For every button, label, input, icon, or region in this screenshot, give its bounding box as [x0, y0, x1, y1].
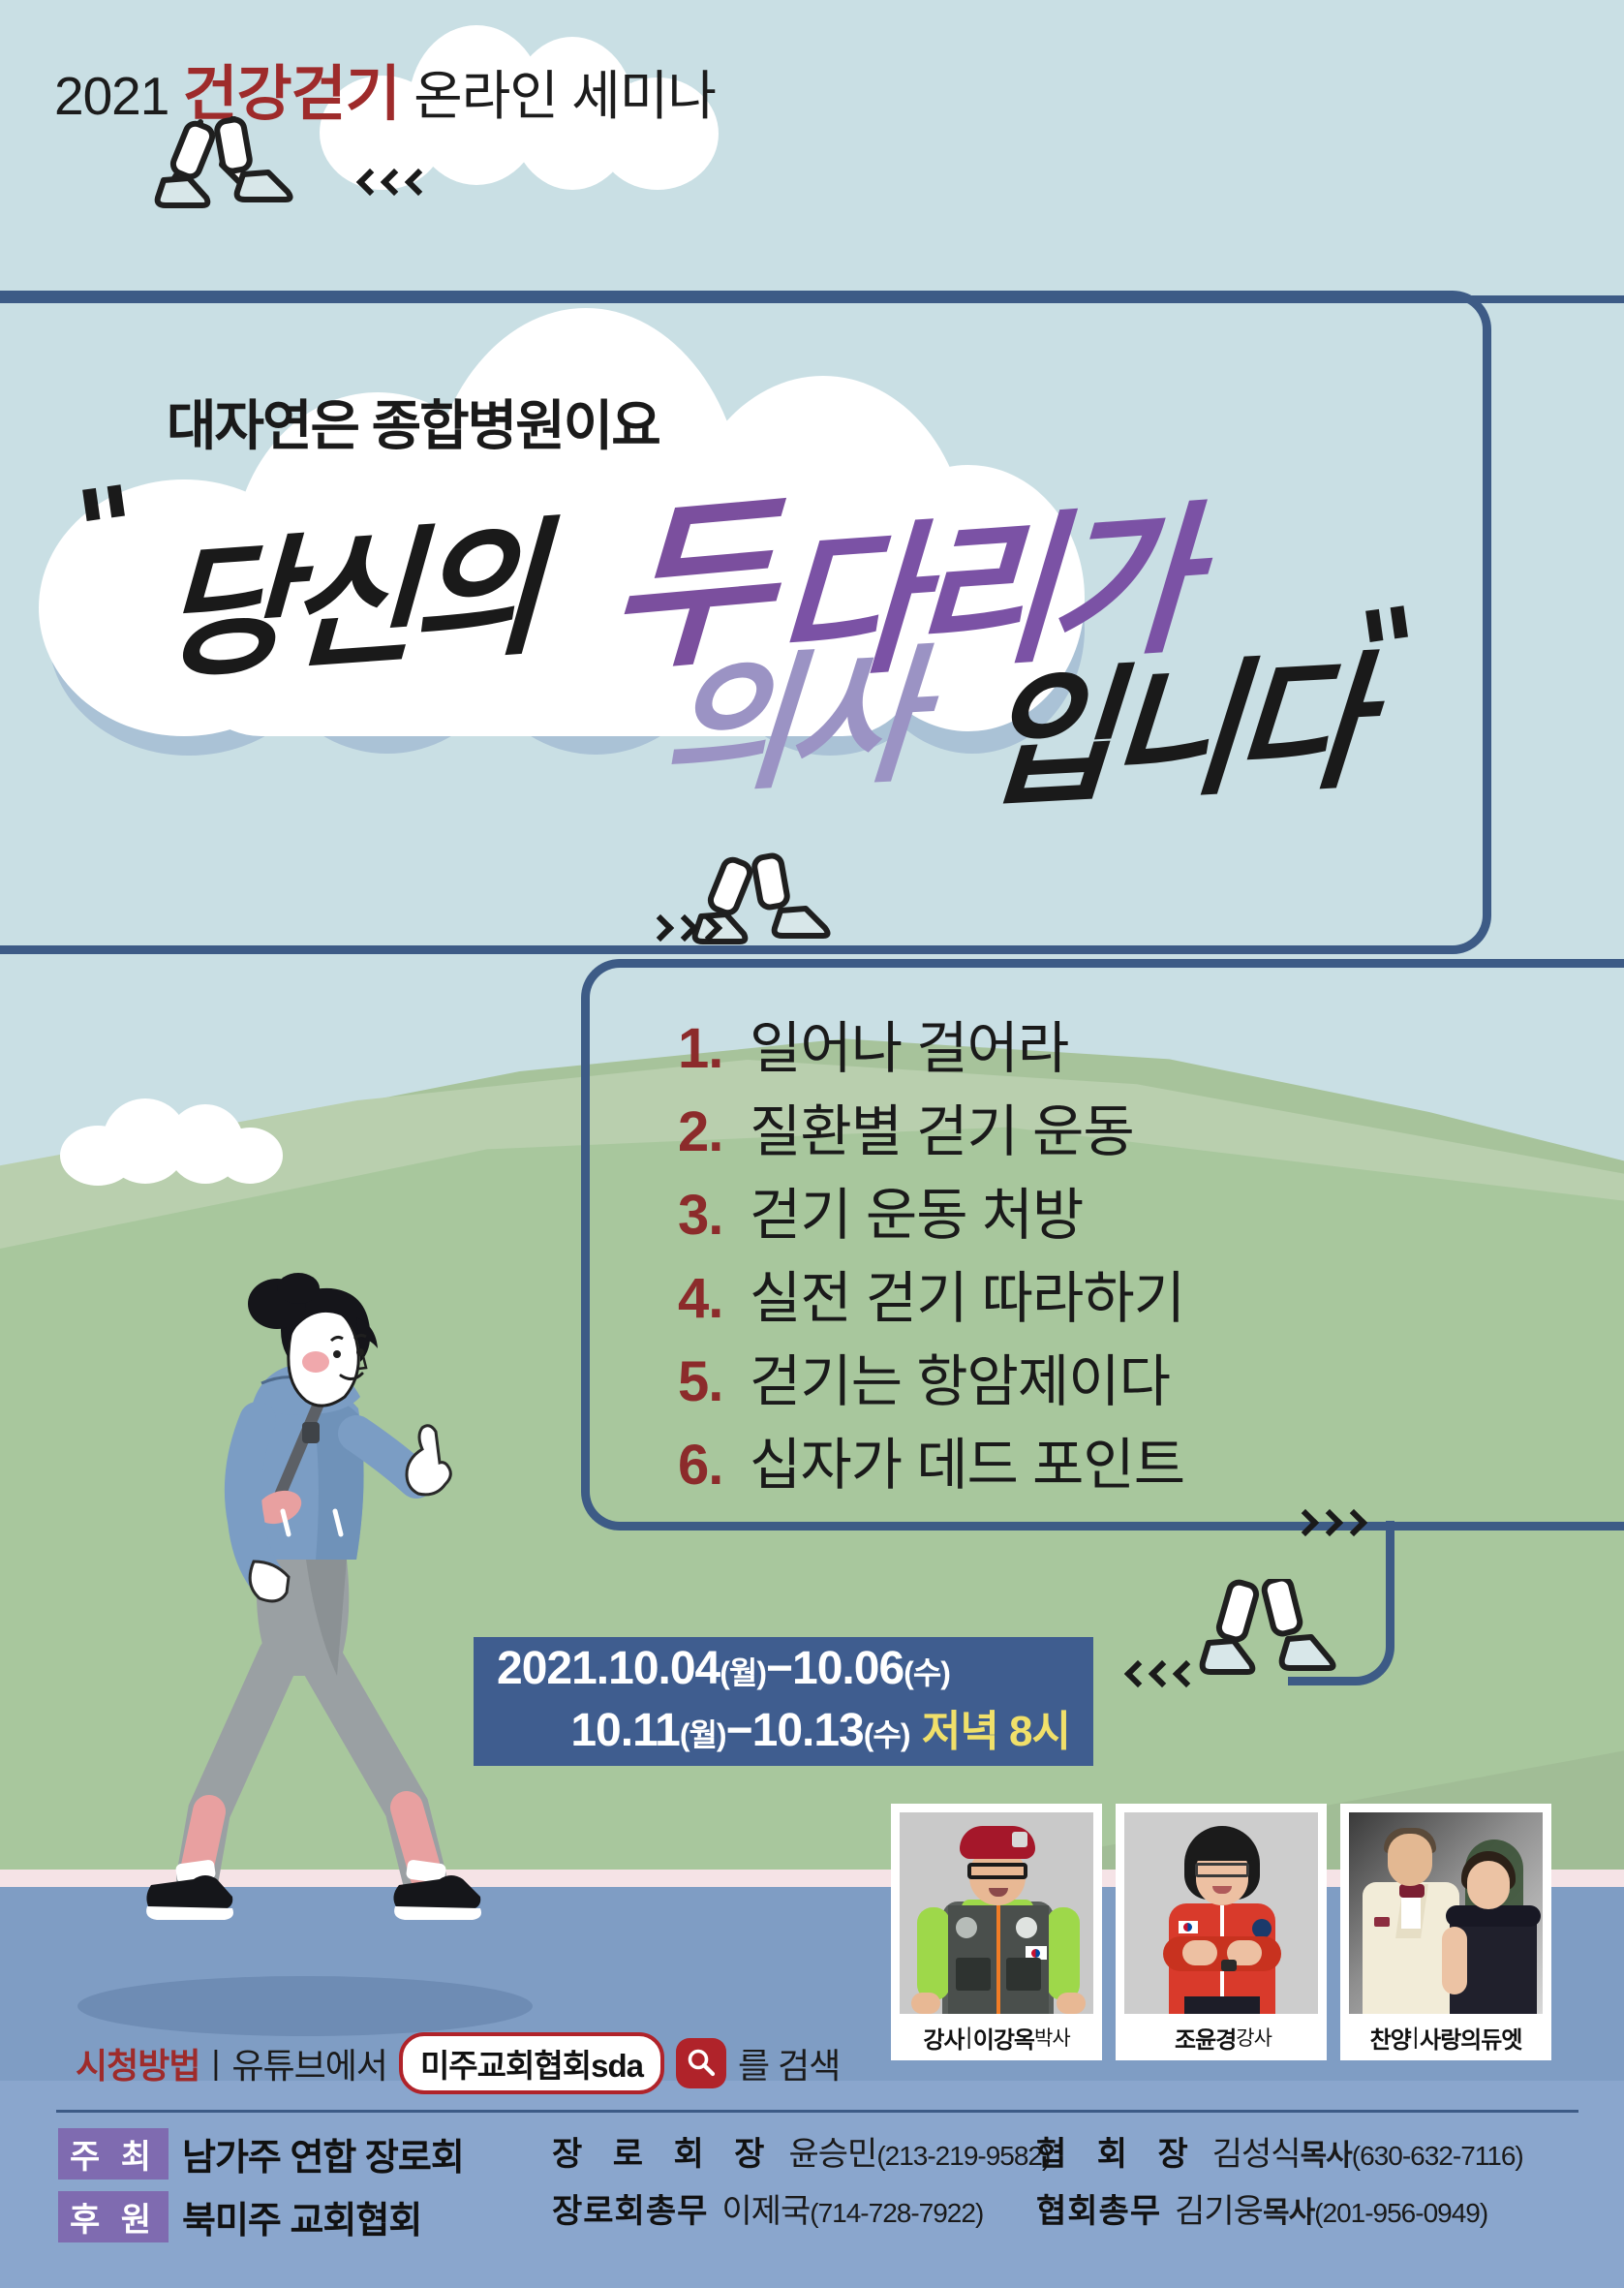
sponsor-name: 북미주 교회협회 — [182, 2190, 421, 2243]
speaker-suffix: 박사 — [1034, 2023, 1070, 2052]
speaker-bar: | — [1413, 2024, 1418, 2051]
speaker-caption: 강사|이강옥박사 — [923, 2014, 1069, 2060]
motion-chevrons-top — [360, 172, 428, 192]
schedule-dash-2: − — [726, 1705, 752, 1756]
watch-method-row: 시청방법 | 유튜브에서 미주교회협회sda 를 검색 — [76, 2032, 840, 2094]
schedule-time: 저녁 8시 — [922, 1708, 1070, 1755]
speaker-card[interactable]: 강사|이강옥박사 — [891, 1804, 1102, 2060]
association-contacts-column: 협 회 장 김성식목사(630-632-7116) 협회총무 김기웅목사(201… — [1036, 2127, 1578, 2243]
speaker-card[interactable]: 조윤경강사 — [1116, 1804, 1327, 2060]
contact-role: 장로회총무 — [552, 2184, 708, 2232]
contact-row: 장로회총무 이제국(714-728-7922) — [552, 2184, 1036, 2232]
topic-item: 3. 걷기 운동 처방 — [678, 1174, 1624, 1257]
speaker-caption: 찬양|사랑의듀엣 — [1370, 2014, 1522, 2060]
contact-phone: (630-632-7116) — [1352, 2141, 1523, 2171]
schedule-line-2: 10.11(월)−10.13(수) 저녁 8시 — [497, 1702, 1070, 1764]
watch-separator: | — [211, 2045, 220, 2083]
walker-shadow — [77, 1976, 533, 2036]
speaker-suffix: 강사 — [1236, 2023, 1272, 2052]
watch-method-label: 시청방법 — [76, 2038, 199, 2088]
speaker-role: 강사 — [923, 2021, 964, 2055]
motion-chevrons-mid — [651, 918, 719, 938]
hero-calligraphy-group: " 당신의 두 다리가 의사 입니다 " — [58, 455, 1433, 746]
topic-item: 6. 십자가 데드 포인트 — [678, 1424, 1624, 1507]
topic-label: 걷기 운동 처방 — [750, 1174, 1083, 1257]
walking-legs-icon — [150, 116, 344, 208]
contact-role: 협 회 장 — [1036, 2127, 1199, 2175]
schedule-date-start-1: 2021.10.04 — [497, 1643, 720, 1694]
host-tag: 주 최 — [58, 2128, 169, 2180]
schedule-day-1: (월) — [720, 1655, 766, 1690]
contact-suffix: 목사 — [1263, 2197, 1314, 2229]
topic-label: 실전 걷기 따라하기 — [750, 1257, 1184, 1341]
contact-row: 협 회 장 김성식목사(630-632-7116) — [1036, 2127, 1578, 2175]
contact-row: 장 로 회 장 윤승민(213-219-9582) — [552, 2127, 1036, 2175]
schedule-line-1: 2021.10.04(월)−10.06(수) — [497, 1640, 1070, 1702]
topic-item: 4. 실전 걷기 따라하기 — [678, 1257, 1624, 1341]
small-cloud — [60, 1095, 283, 1188]
watch-prefix: 유튜브에서 — [231, 2038, 387, 2088]
poster-root: 2021 건강걷기 온라인 세미나 대자연은 종합병원이요 " 당신의 두 다리… — [0, 0, 1624, 2288]
contact-phone: (213-219-9582) — [876, 2141, 1050, 2171]
elder-contacts-column: 장 로 회 장 윤승민(213-219-9582) 장로회총무 이제국(714-… — [552, 2127, 1036, 2243]
calligraphy-word-1: 당신의 — [157, 471, 541, 708]
topics-list: 1. 일어나 걸어라 2. 질환별 걷기 운동 3. 걷기 운동 처방 4. 실… — [678, 1007, 1624, 1507]
speaker-bar: | — [966, 2024, 971, 2051]
topic-number: 4. — [678, 1257, 750, 1341]
calligraphy-word-5: 입니다 — [976, 604, 1368, 836]
speaker-name: 사랑의듀엣 — [1420, 2021, 1521, 2055]
schedule-date-end-2: 10.13 — [752, 1705, 864, 1756]
topic-number: 1. — [678, 1007, 750, 1091]
motion-chevrons-legs-right — [1128, 1664, 1196, 1684]
topic-number: 3. — [678, 1174, 750, 1257]
footer-divider — [56, 2110, 1578, 2113]
hero-subtitle: 대자연은 종합병원이요 — [167, 383, 659, 461]
organizer-column: 주 최 남가주 연합 장로회 후 원 북미주 교회협회 — [58, 2127, 552, 2243]
contact-role: 장 로 회 장 — [552, 2127, 775, 2175]
topic-label: 십자가 데드 포인트 — [750, 1424, 1184, 1507]
speaker-caption: 조윤경강사 — [1171, 2014, 1272, 2060]
topic-number: 2. — [678, 1091, 750, 1174]
host-row: 주 최 남가주 연합 장로회 — [58, 2127, 552, 2180]
contact-row: 협회총무 김기웅목사(201-956-0949) — [1036, 2184, 1578, 2232]
contact-name: 이제국 — [721, 2193, 810, 2230]
speaker-photo-jo-yun-kyung — [1124, 1812, 1318, 2014]
contact-role: 협회총무 — [1036, 2184, 1161, 2232]
topic-label: 질환별 걷기 운동 — [750, 1091, 1134, 1174]
schedule-dash-1: − — [766, 1643, 792, 1694]
schedule-date-start-2: 10.11 — [570, 1705, 679, 1756]
topic-number: 5. — [678, 1341, 750, 1424]
topic-number: 6. — [678, 1424, 750, 1507]
walking-legs-icon-right — [1191, 1579, 1385, 1685]
topic-item: 2. 질환별 걷기 운동 — [678, 1091, 1624, 1174]
contact-person: 이제국(714-728-7922) — [721, 2184, 983, 2232]
topic-item: 5. 걷기는 항암제이다 — [678, 1341, 1624, 1424]
schedule-day-3: (월) — [680, 1717, 726, 1752]
watch-postfix: 를 검색 — [738, 2038, 840, 2088]
schedule-day-2: (수) — [904, 1655, 950, 1690]
speaker-photo-love-duet — [1349, 1812, 1543, 2014]
sponsor-tag: 후 원 — [58, 2191, 169, 2242]
contact-person: 김기웅목사(201-956-0949) — [1175, 2184, 1487, 2232]
topic-label: 걷기는 항암제이다 — [750, 1341, 1170, 1424]
header-tail: 온라인 세미나 — [414, 66, 716, 126]
speaker-role: 찬양 — [1370, 2021, 1411, 2055]
contact-phone: (714-728-7922) — [810, 2198, 983, 2228]
contact-person: 윤승민(213-219-9582) — [788, 2127, 1050, 2175]
speaker-photo-lee-kang-ok — [900, 1812, 1093, 2014]
speakers-gallery: 강사|이강옥박사 조윤경강사 — [891, 1804, 1551, 2060]
host-name: 남가주 연합 장로회 — [182, 2127, 464, 2180]
credits-block: 주 최 남가주 연합 장로회 후 원 북미주 교회협회 장 로 회 장 윤승민(… — [58, 2127, 1588, 2243]
contact-suffix: 목사 — [1301, 2140, 1352, 2172]
contact-person: 김성식목사(630-632-7116) — [1212, 2127, 1523, 2175]
topic-label: 일어나 걸어라 — [750, 1007, 1068, 1091]
walking-woman-illustration — [116, 1269, 523, 1966]
schedule-day-4: (수) — [864, 1717, 910, 1752]
speaker-name: 조윤경 — [1175, 2021, 1236, 2055]
contact-name: 김성식 — [1212, 2136, 1301, 2173]
schedule-box: 2021.10.04(월)−10.06(수) 10.11(월)−10.13(수)… — [474, 1637, 1093, 1766]
youtube-channel-chip[interactable]: 미주교회협회sda — [399, 2032, 664, 2094]
sponsor-row: 후 원 북미주 교회협회 — [58, 2190, 552, 2243]
quote-open: " — [69, 461, 147, 603]
calligraphy-word-4: 의사 — [657, 599, 923, 823]
schedule-date-end-1: 10.06 — [792, 1643, 904, 1694]
contact-name: 김기웅 — [1175, 2193, 1263, 2230]
speaker-name: 이강옥 — [973, 2021, 1034, 2055]
contact-name: 윤승민 — [788, 2136, 876, 2173]
quote-close: " — [1352, 582, 1430, 724]
speaker-card[interactable]: 찬양|사랑의듀엣 — [1340, 1804, 1551, 2060]
magnifier-icon[interactable] — [676, 2038, 726, 2088]
topic-item: 1. 일어나 걸어라 — [678, 1007, 1624, 1091]
contact-phone: (201-956-0949) — [1314, 2198, 1487, 2228]
